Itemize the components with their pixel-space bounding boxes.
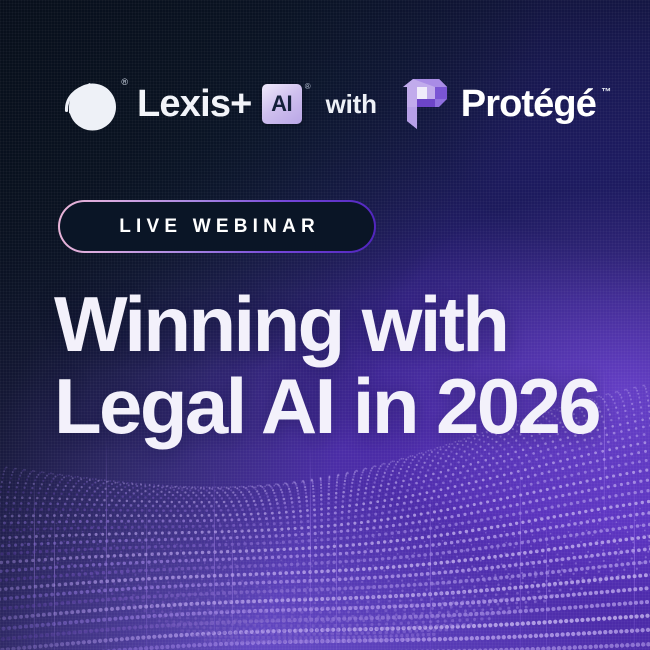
ai-badge-label: AI xyxy=(271,91,292,117)
live-webinar-badge-label: LIVE WEBINAR xyxy=(114,216,320,238)
lexis-wordmark: Lexis+ xyxy=(137,83,252,126)
page-title: Winning withLegal AI in 2026 xyxy=(54,286,634,445)
lexisnexis-burst-icon: ® xyxy=(55,70,123,138)
protege-wordmark: Protégé ™ xyxy=(461,83,596,126)
page-title-line-2: Legal AI in 2026 xyxy=(54,368,634,445)
protege-trademark: ™ xyxy=(601,87,611,98)
brand-lockup: ® Lexis+ AI ® with Pro xyxy=(55,68,596,140)
lockup-conjunction: with xyxy=(326,89,377,120)
promo-card: ® Lexis+ AI ® with Pro xyxy=(0,0,650,650)
ai-registered-mark: ® xyxy=(305,83,311,91)
live-webinar-badge-inner: LIVE WEBINAR xyxy=(60,202,375,252)
live-webinar-badge: LIVE WEBINAR xyxy=(58,200,376,253)
content-layer: ® Lexis+ AI ® with Pro xyxy=(0,0,650,650)
protege-folded-p-icon xyxy=(401,79,447,129)
page-title-line-1: Winning with xyxy=(54,286,634,363)
ai-badge: AI ® xyxy=(262,84,302,124)
lexis-registered-mark: ® xyxy=(121,78,128,87)
protege-wordmark-text: Protégé xyxy=(461,83,596,125)
